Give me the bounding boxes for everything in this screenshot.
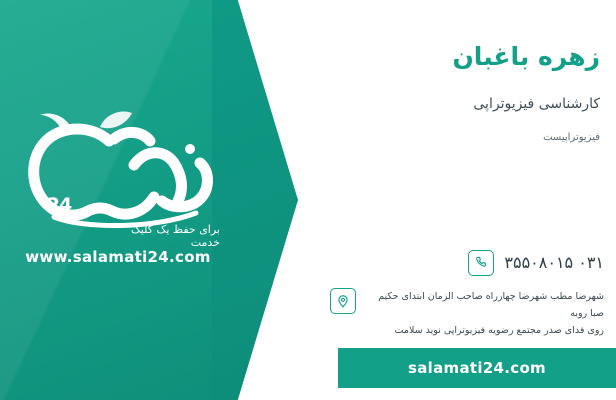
- panel-chevron-shape: [212, 0, 298, 400]
- address-line-2: روی فدای صدر مجتمع رضویه فیزیوتراپی نوید…: [366, 322, 604, 339]
- footer-bar: salamati24.com: [338, 348, 616, 388]
- contact-phone-row: ۰۳۱ ۳۵۵۰۸۰۱۵: [468, 250, 604, 276]
- address-line-1: شهرضا مطب شهرضا چهارراه صاحب الزمان ابتد…: [366, 288, 604, 322]
- logo: 24 برای حفظ یک کلیک خدمت: [14, 105, 224, 240]
- address-text: شهرضا مطب شهرضا چهارراه صاحب الزمان ابتد…: [366, 288, 604, 339]
- card-details: زهره باغبان کارشناسی فیزیوتراپی فیزیوترا…: [300, 0, 616, 400]
- person-name: زهره باغبان: [452, 42, 600, 71]
- phone-number: ۰۳۱ ۳۵۵۰۸۰۱۵: [504, 250, 604, 276]
- location-pin-glyph: [336, 294, 350, 308]
- person-subtitle: فیزیوتراپیست: [543, 132, 600, 143]
- business-card: 24 برای حفظ یک کلیک خدمت www.salamati24.…: [0, 0, 616, 400]
- contact-address-row: شهرضا مطب شهرضا چهارراه صاحب الزمان ابتد…: [330, 288, 604, 339]
- phone-icon: [468, 250, 494, 276]
- logo-website-url: www.salamati24.com: [18, 248, 218, 266]
- logo-badge-24: 24: [42, 190, 76, 220]
- phone-glyph: [474, 256, 488, 270]
- person-title: کارشناسی فیزیوتراپی: [473, 96, 600, 112]
- footer-website-url: salamati24.com: [408, 359, 546, 377]
- logo-tagline: برای حفظ یک کلیک خدمت: [100, 223, 220, 249]
- location-pin-icon: [330, 288, 356, 314]
